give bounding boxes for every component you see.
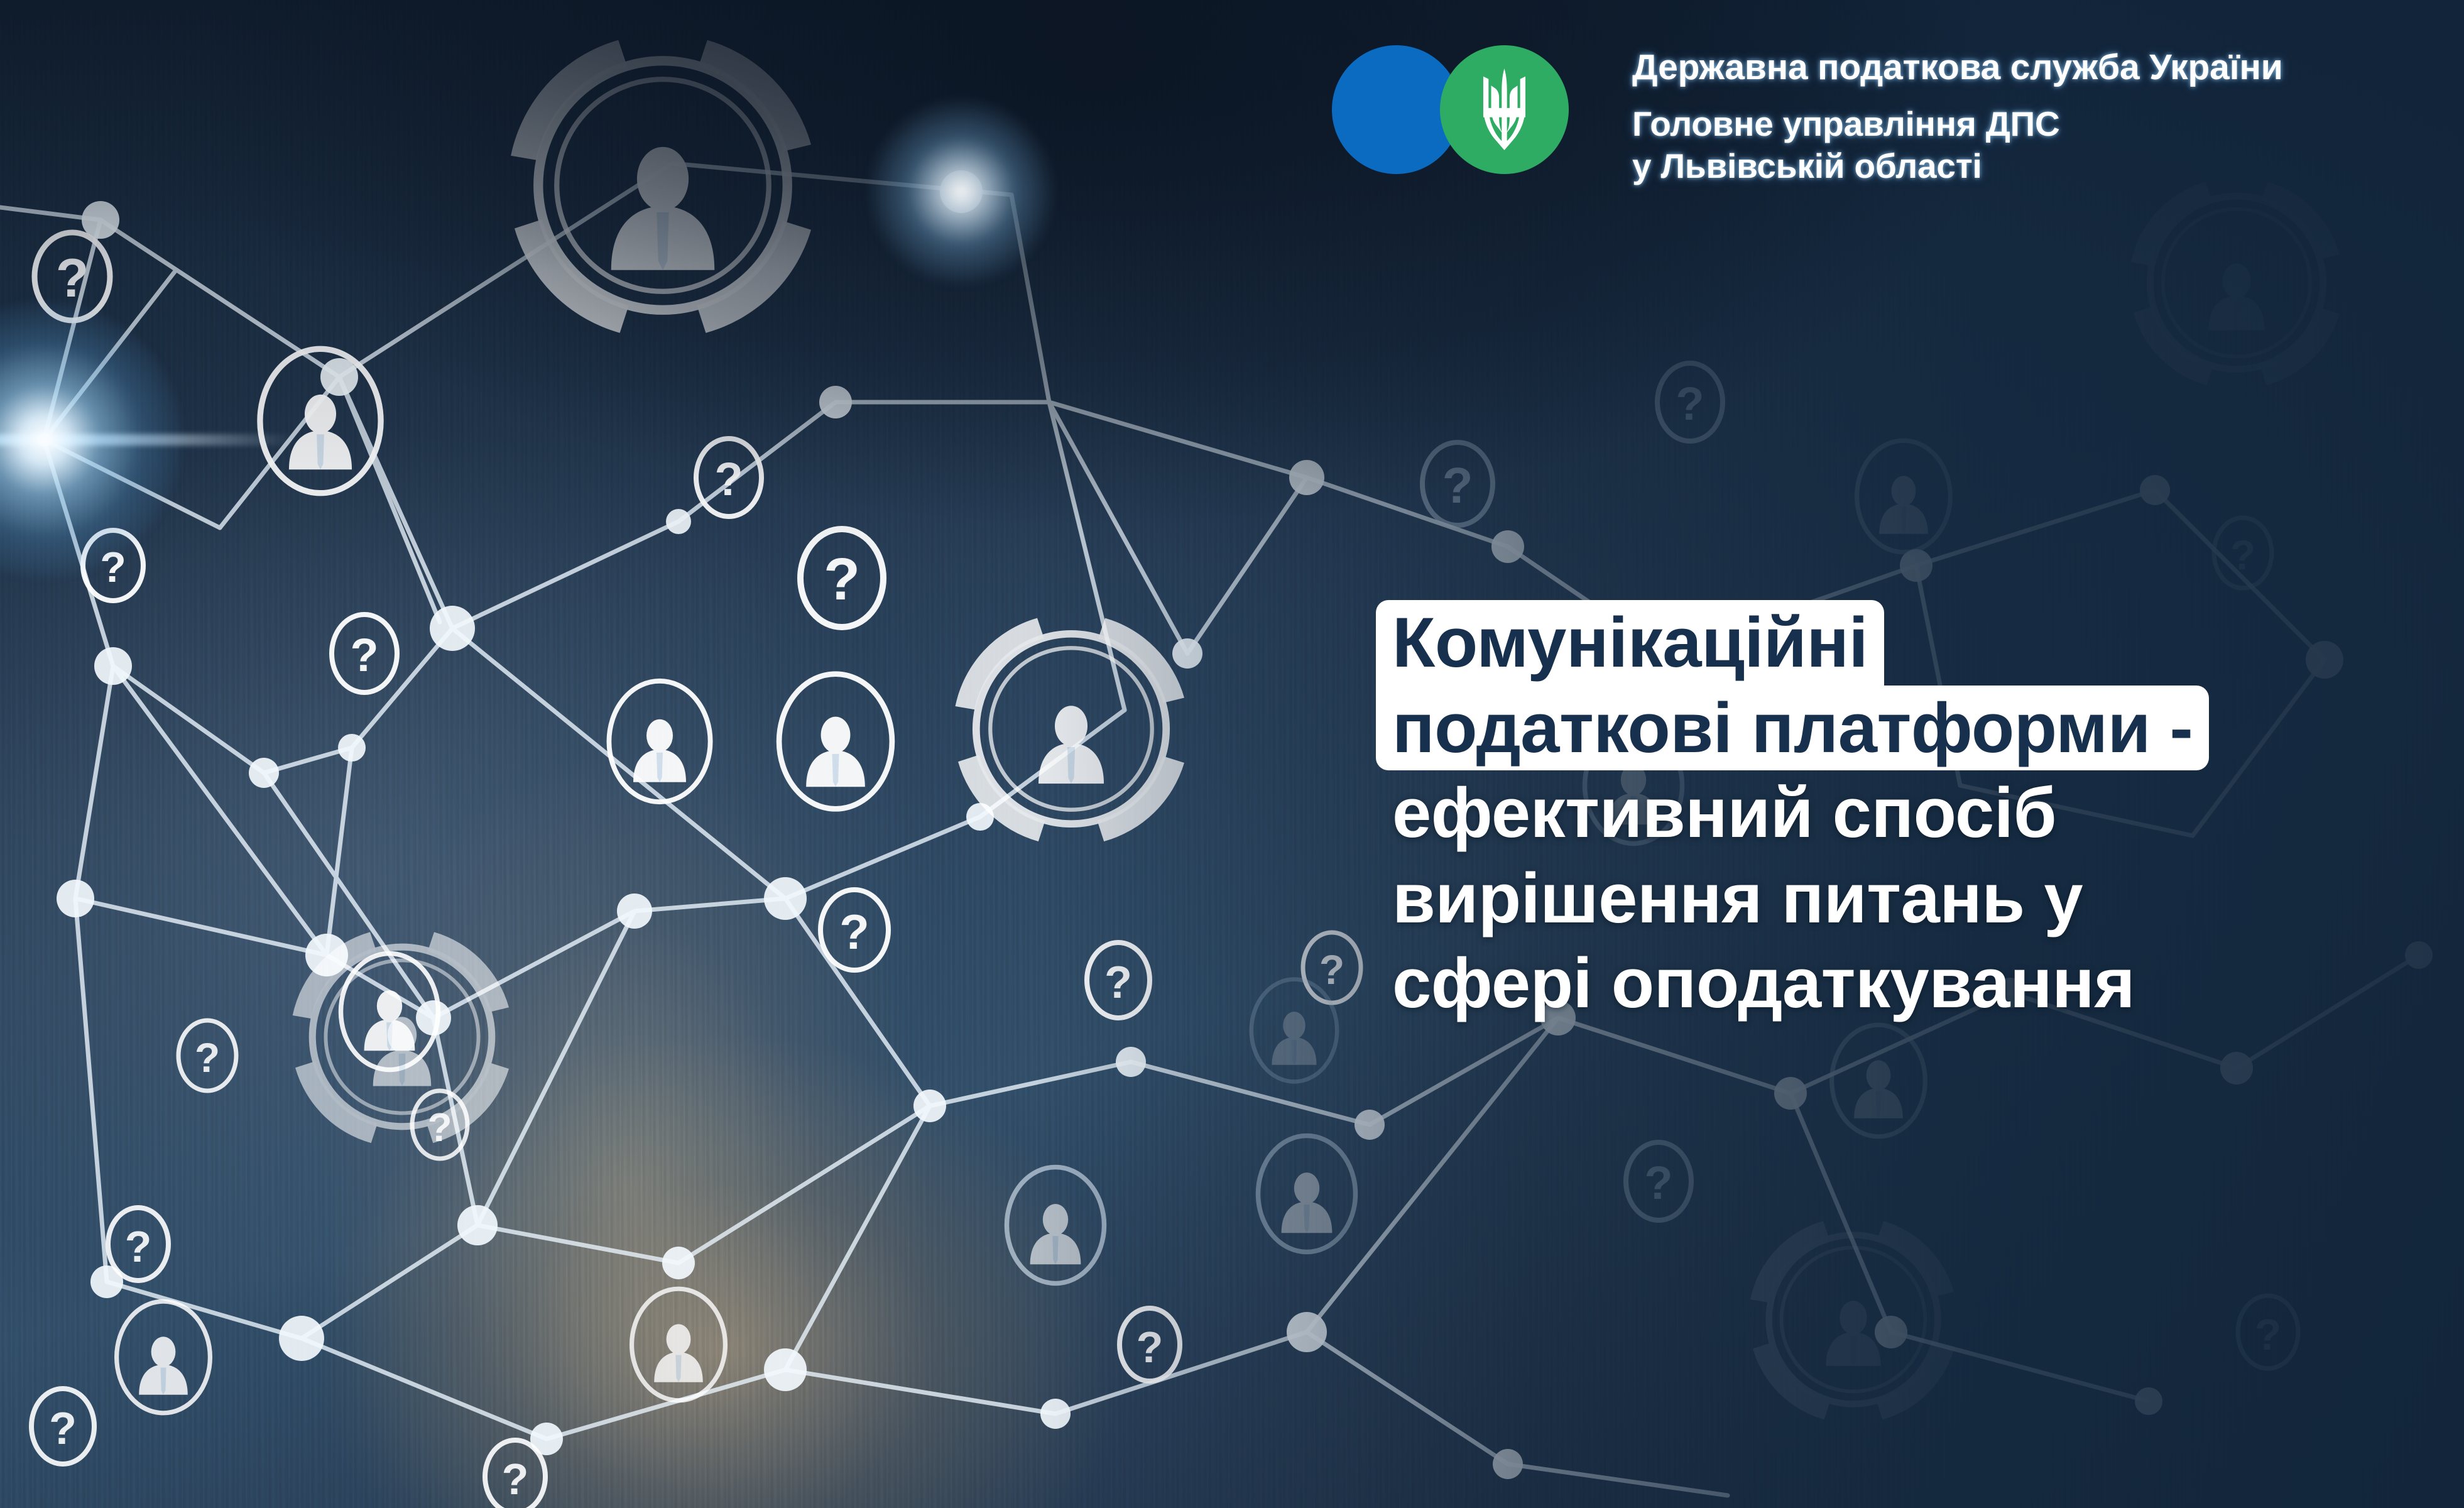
ukraine-trident-icon [1471,68,1537,150]
organization-name: Державна податкова служба України [1632,49,2283,87]
logo-text-block: Державна податкова служба України Головн… [1632,45,2283,187]
logo-block: Державна податкова служба України Головн… [1332,45,2283,187]
headline-line-3: ефективний спосіб [1376,770,2438,856]
headline-line-5: сфері оподаткування [1376,941,2438,1026]
department-line-2: у Львівській області [1632,145,2283,187]
headline-line-1: Комунікаційні [1376,600,1884,686]
department-line-1: Головне управління ДПС [1632,103,2283,145]
headline-line-2: податкові платформи - [1376,686,2209,771]
banner-root: ? ? ? ? ? [0,0,2464,1508]
logo-marks [1332,45,1621,174]
headline-block: Комунікаційні податкові платформи - ефек… [1376,600,2438,1026]
headline-highlight-group: Комунікаційні податкові платформи - [1376,600,2438,770]
department-name: Головне управління ДПС у Львівській обла… [1632,103,2283,187]
headline-line-4: вирішення питань у [1376,856,2438,941]
